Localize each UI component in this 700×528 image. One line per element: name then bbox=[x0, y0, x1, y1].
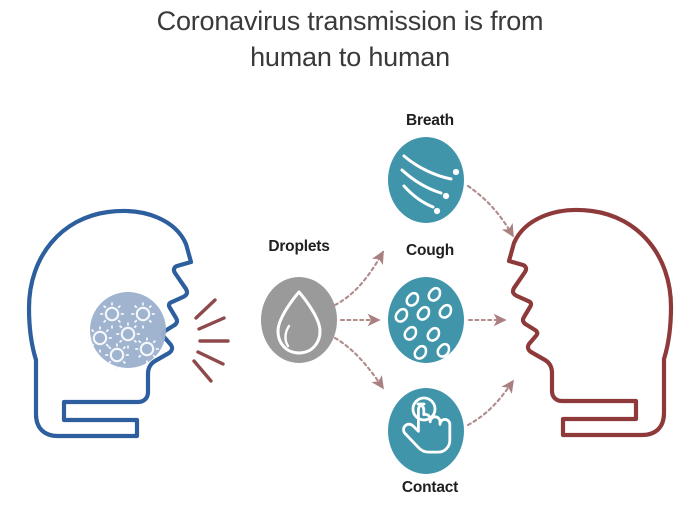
infected-person-figure bbox=[29, 211, 228, 436]
cough-node[interactable] bbox=[388, 277, 464, 363]
arrow-droplets-to-contact bbox=[335, 338, 383, 388]
contact-circle-background bbox=[388, 388, 464, 474]
droplets-node[interactable] bbox=[261, 277, 337, 363]
infographic-canvas: Coronavirus transmission is from human t… bbox=[0, 0, 700, 528]
contact-label: Contact bbox=[345, 479, 515, 497]
breath-label: Breath bbox=[345, 112, 515, 130]
arrow-breath-to-person bbox=[468, 186, 513, 236]
healthy-person-figure bbox=[509, 210, 671, 435]
cough-line bbox=[196, 300, 215, 318]
droplets-circle-background bbox=[261, 277, 337, 363]
cough-line bbox=[198, 352, 223, 364]
diagram-graphics bbox=[0, 0, 700, 528]
cough-line bbox=[194, 361, 211, 381]
breath-circle-background bbox=[388, 137, 464, 223]
arrow-contact-to-person bbox=[468, 381, 513, 425]
contact-node[interactable] bbox=[388, 388, 464, 474]
healthy-head-outline bbox=[509, 210, 671, 435]
cough-label: Cough bbox=[345, 242, 515, 260]
breath-node[interactable] bbox=[388, 137, 464, 223]
cough-radiating-lines bbox=[194, 300, 228, 381]
cough-line bbox=[199, 318, 224, 329]
